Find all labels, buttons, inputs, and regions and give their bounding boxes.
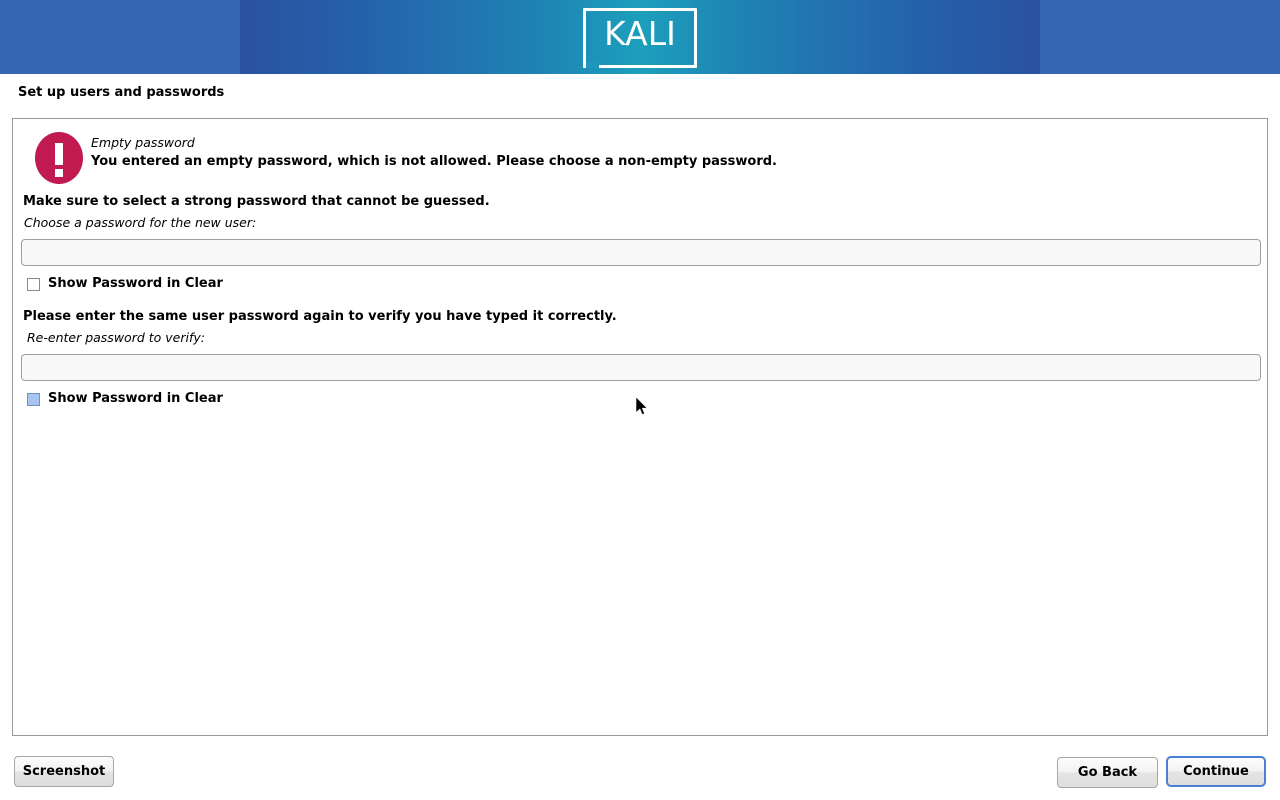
show-password-clear-label-1: Show Password in Clear bbox=[48, 276, 223, 291]
go-back-button[interactable]: Go Back bbox=[1057, 757, 1158, 788]
exclamation-bar bbox=[55, 143, 63, 165]
verify-instruction: Please enter the same user password agai… bbox=[23, 309, 617, 324]
kali-logo: KALI bbox=[583, 8, 697, 68]
verify-password-input[interactable] bbox=[21, 354, 1261, 381]
password-instruction: Make sure to select a strong password th… bbox=[23, 194, 490, 209]
mouse-cursor bbox=[636, 397, 650, 417]
show-password-clear-checkbox-1[interactable] bbox=[27, 278, 40, 291]
error-exclamation-icon bbox=[35, 132, 83, 184]
error-banner: Empty password You entered an empty pass… bbox=[22, 127, 1252, 189]
exclamation-dot bbox=[55, 169, 63, 177]
show-password-clear-checkbox-2[interactable] bbox=[27, 393, 40, 406]
installer-window: KALI Set up users and passwords Empty pa… bbox=[0, 0, 1280, 800]
logo-frame-notch bbox=[586, 62, 599, 68]
page-title: Set up users and passwords bbox=[18, 85, 224, 100]
screenshot-button[interactable]: Screenshot bbox=[14, 756, 114, 787]
verify-field-label: Re-enter password to verify: bbox=[27, 330, 205, 345]
show-password-clear-label-2: Show Password in Clear bbox=[48, 391, 223, 406]
password-input[interactable] bbox=[21, 239, 1261, 266]
continue-button[interactable]: Continue bbox=[1166, 756, 1266, 787]
password-field-label: Choose a password for the new user: bbox=[24, 215, 256, 230]
error-message: You entered an empty password, which is … bbox=[91, 154, 777, 169]
main-panel: Empty password You entered an empty pass… bbox=[12, 118, 1268, 736]
error-title: Empty password bbox=[91, 135, 195, 150]
kali-banner: KALI bbox=[0, 0, 1280, 74]
logo-text: KALI bbox=[583, 8, 697, 60]
